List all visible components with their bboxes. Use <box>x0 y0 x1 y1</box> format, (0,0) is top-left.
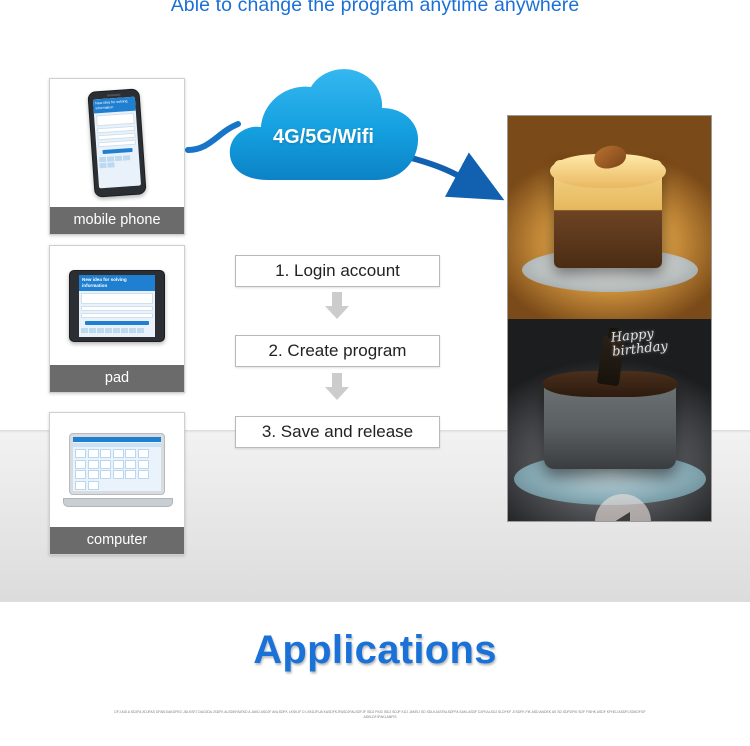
pad-screen-block <box>81 293 153 304</box>
phone-screen: New idea for solving information <box>93 97 141 189</box>
photo-bottom-text: Happy birthday <box>610 322 706 371</box>
mobile-phone-illustration: New idea for solving information <box>50 79 184 207</box>
display-screen-panel[interactable]: Happy birthday <box>507 115 712 522</box>
play-triangle-icon <box>610 509 636 522</box>
phone-notch <box>107 94 121 97</box>
cloud-label: 4G/5G/Wifi <box>216 126 431 149</box>
pad-screen-button <box>85 321 149 325</box>
fine-print-text: DFJ AID A SDJFA XDJFAS DFAB DAKDFKG JDLK… <box>100 710 660 721</box>
step-arrow-down-1 <box>322 292 352 320</box>
laptop-screen-header <box>73 437 161 442</box>
step-3-label: 3. Save and release <box>262 422 413 442</box>
pad-screen: New idea for solving information <box>79 275 155 337</box>
device-label-pad: pad <box>50 365 184 392</box>
step-save-and-release[interactable]: 3. Save and release <box>235 416 440 448</box>
laptop-screen <box>73 437 161 491</box>
step-2-label: 2. Create program <box>269 341 407 361</box>
display-photo-bottom: Happy birthday <box>508 319 711 522</box>
device-label-mobile-phone: mobile phone <box>50 207 184 234</box>
page-headline: Able to change the program anytime anywh… <box>0 0 750 17</box>
laptop-lid <box>69 433 165 495</box>
display-photo-top <box>508 116 711 319</box>
phone-screen-grid <box>99 155 138 169</box>
device-card-computer[interactable]: computer <box>49 412 185 555</box>
pad-screen-row <box>81 313 153 318</box>
cloud-graphic: 4G/5G/Wifi <box>216 62 431 197</box>
page-root: Able to change the program anytime anywh… <box>0 0 750 746</box>
phone-screen-block <box>96 113 135 127</box>
phone-screen-button <box>102 148 132 154</box>
applications-title: Applications <box>0 628 750 673</box>
device-label-computer: computer <box>50 527 184 554</box>
step-login-account[interactable]: 1. Login account <box>235 255 440 287</box>
phone-device-icon: New idea for solving information <box>87 88 146 197</box>
device-card-pad[interactable]: New idea for solving information pad <box>49 245 185 393</box>
pad-illustration: New idea for solving information <box>50 246 184 365</box>
computer-illustration <box>50 413 184 527</box>
step-arrow-down-2 <box>322 373 352 401</box>
laptop-screen-grid <box>73 447 161 491</box>
laptop-base <box>63 498 173 507</box>
pad-screen-row <box>81 306 153 311</box>
phone-screen-title: New idea for solving information <box>93 97 136 114</box>
phone-screen-row <box>98 140 136 148</box>
step-create-program[interactable]: 2. Create program <box>235 335 440 367</box>
device-card-mobile-phone[interactable]: New idea for solving information mobile … <box>49 78 185 235</box>
pad-screen-title: New idea for solving information <box>79 275 155 291</box>
laptop-device-icon <box>63 433 171 507</box>
step-1-label: 1. Login account <box>275 261 400 281</box>
pad-screen-grid <box>81 328 153 333</box>
pad-device-icon: New idea for solving information <box>69 270 165 342</box>
